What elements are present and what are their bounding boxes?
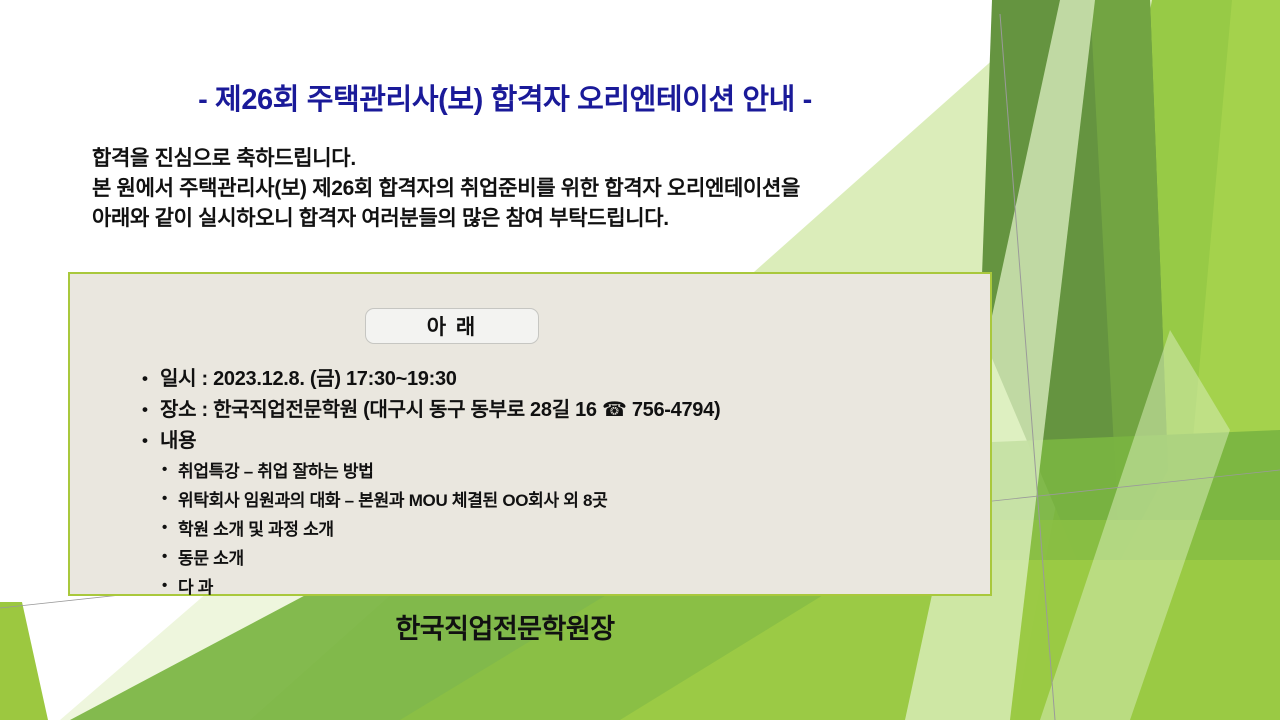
intro-line-3: 아래와 같이 실시하오니 합격자 여러분들의 많은 참여 부탁드립니다. [92, 204, 992, 234]
list-item: 동문 소개 [142, 544, 970, 573]
details-list: 일시 : 2023.12.8. (금) 17:30~19:30 장소 : 한국직… [142, 364, 970, 602]
list-item: 내용 [142, 426, 970, 457]
intro-line-1: 합격을 진심으로 축하드립니다. [92, 144, 992, 174]
list-item: 다 과 [142, 573, 970, 602]
list-item: 위탁회사 임원과의 대화 – 본원과 MOU 체결된 OO회사 외 8곳 [142, 486, 970, 515]
footer-signature: 한국직업전문학원장 [0, 607, 1010, 646]
list-item: 장소 : 한국직업전문학원 (대구시 동구 동부로 28길 16 ☎ 756-4… [142, 395, 970, 426]
arae-heading-badge: 아 래 [365, 308, 539, 344]
details-content-box: 아 래 일시 : 2023.12.8. (금) 17:30~19:30 장소 :… [68, 272, 992, 596]
list-item: 일시 : 2023.12.8. (금) 17:30~19:30 [142, 364, 970, 395]
intro-paragraph: 합격을 진심으로 축하드립니다. 본 원에서 주택관리사(보) 제26회 합격자… [92, 144, 992, 234]
list-item: 취업특강 – 취업 잘하는 방법 [142, 457, 970, 486]
decor-shape-mid-green-facet [1090, 0, 1168, 560]
presentation-slide: - 제26회 주택관리사(보) 합격자 오리엔테이션 안내 - 합격을 진심으로… [0, 0, 1280, 720]
decor-shape-light-lime-edge [1168, 0, 1280, 720]
page-title: - 제26회 주택관리사(보) 합격자 오리엔테이션 안내 - [0, 76, 1010, 118]
intro-line-2: 본 원에서 주택관리사(보) 제26회 합격자의 취업준비를 위한 합격자 오리… [92, 174, 992, 204]
decor-shape-bright-lime-right [1015, 0, 1280, 720]
list-item: 학원 소개 및 과정 소개 [142, 515, 970, 544]
decor-shape-pale-sliver-lower [1040, 330, 1230, 720]
